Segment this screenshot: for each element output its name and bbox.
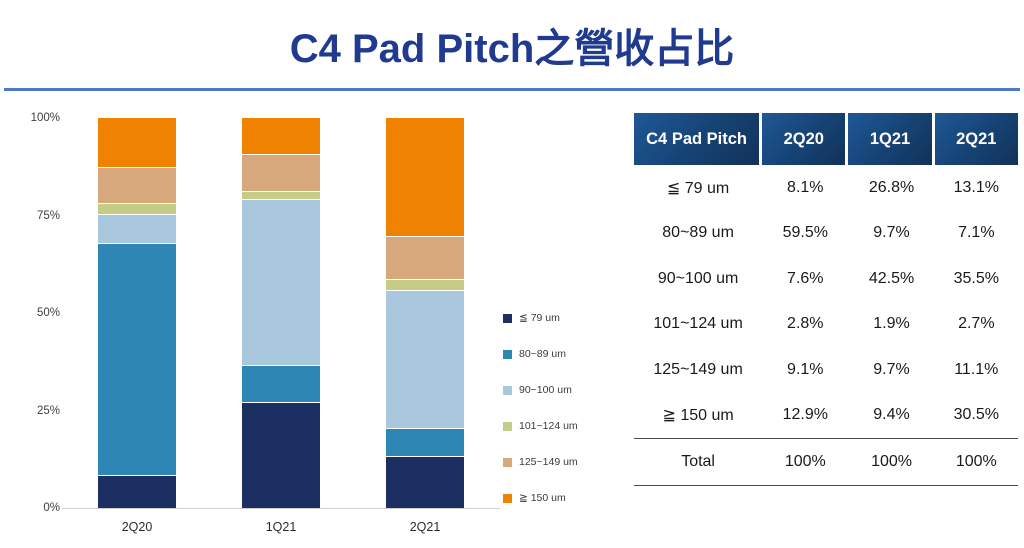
bar-segment[interactable]	[242, 200, 320, 366]
bar-segment[interactable]	[386, 118, 464, 237]
bar-segment[interactable]	[242, 155, 320, 193]
bar-segment[interactable]	[98, 244, 176, 476]
table-cell-value: 42.5%	[848, 256, 934, 302]
y-tick-label: 100%	[8, 112, 60, 124]
table-cell-label: 80~89 um	[634, 211, 762, 257]
legend-item[interactable]: 90~100 um	[503, 372, 623, 408]
bar-segment[interactable]	[386, 280, 464, 291]
y-axis: 100% 75% 50% 25% 0%	[8, 104, 60, 504]
legend-item[interactable]: 125~149 um	[503, 444, 623, 480]
table-cell-value: 100%	[848, 438, 934, 486]
table-cell-value: 2.8%	[762, 302, 848, 348]
y-tick-label: 75%	[8, 210, 60, 222]
table-cell-value: 9.1%	[762, 347, 848, 393]
table-cell-value: 7.6%	[762, 256, 848, 302]
table-cell-label: 101~124 um	[634, 302, 762, 348]
legend-swatch-icon	[503, 350, 512, 359]
table-cell-label: ≧ 150 um	[634, 393, 762, 439]
legend-label: ≧ 150 um	[519, 492, 566, 504]
legend-item[interactable]: ≦ 79 um	[503, 300, 623, 336]
table-total-row: Total100%100%100%	[634, 438, 1018, 486]
bar-segment[interactable]	[386, 237, 464, 280]
table-cell-value: 9.7%	[848, 347, 934, 393]
legend-item[interactable]: 80~89 um	[503, 336, 623, 372]
bar-segment[interactable]	[386, 457, 464, 508]
table-cell-label: 125~149 um	[634, 347, 762, 393]
bar-segment[interactable]	[242, 403, 320, 508]
legend-swatch-icon	[503, 314, 512, 323]
table-cell-value: 59.5%	[762, 211, 848, 257]
table-cell-value: 13.1%	[935, 165, 1018, 211]
table-cell-value: 9.7%	[848, 211, 934, 257]
table-cell-value: 100%	[762, 438, 848, 486]
bar-stack-1Q21[interactable]	[242, 118, 320, 508]
legend-item[interactable]: ≧ 150 um	[503, 480, 623, 516]
bar-segment[interactable]	[386, 429, 464, 457]
table-header-cell: C4 Pad Pitch	[634, 113, 762, 165]
table-row: 125~149 um9.1%9.7%11.1%	[634, 347, 1018, 393]
page-title: C4 Pad Pitch之營收占比	[0, 16, 1024, 74]
table-row: ≦ 79 um8.1%26.8%13.1%	[634, 165, 1018, 211]
table-cell-value: 30.5%	[935, 393, 1018, 439]
bar-segment[interactable]	[98, 118, 176, 168]
legend-label: 80~89 um	[519, 348, 566, 360]
bar-segment[interactable]	[242, 366, 320, 404]
table-cell-value: 2.7%	[935, 302, 1018, 348]
table-cell-value: 26.8%	[848, 165, 934, 211]
table-cell-value: 12.9%	[762, 393, 848, 439]
bar-segment[interactable]	[242, 192, 320, 199]
table-row: 90~100 um7.6%42.5%35.5%	[634, 256, 1018, 302]
chart-legend: ≦ 79 um80~89 um90~100 um101~124 um125~14…	[503, 300, 623, 516]
plot-area	[66, 118, 496, 508]
x-tick-label: 1Q21	[226, 520, 336, 534]
table-row: 80~89 um59.5%9.7%7.1%	[634, 211, 1018, 257]
table-cell-label: ≦ 79 um	[634, 165, 762, 211]
bar-segment[interactable]	[242, 118, 320, 155]
table-header-cell: 2Q20	[762, 113, 848, 165]
x-axis: 2Q20 1Q21 2Q21	[66, 514, 496, 544]
table-cell-value: 1.9%	[848, 302, 934, 348]
title-divider	[4, 88, 1020, 91]
legend-swatch-icon	[503, 458, 512, 467]
legend-swatch-icon	[503, 494, 512, 503]
table-cell-value: 35.5%	[935, 256, 1018, 302]
table-cell-value: 100%	[935, 438, 1018, 486]
legend-label: 90~100 um	[519, 384, 572, 396]
x-axis-line	[62, 508, 500, 509]
legend-label: 125~149 um	[519, 456, 578, 468]
x-tick-label: 2Q21	[370, 520, 480, 534]
bar-segment[interactable]	[98, 204, 176, 215]
bar-segment[interactable]	[386, 291, 464, 429]
table-row: ≧ 150 um12.9%9.4%30.5%	[634, 393, 1018, 439]
table-cell-value: 9.4%	[848, 393, 934, 439]
table-cell-value: 7.1%	[935, 211, 1018, 257]
table-header-cell: 1Q21	[848, 113, 934, 165]
y-tick-label: 25%	[8, 405, 60, 417]
table-header-cell: 2Q21	[935, 113, 1018, 165]
legend-label: 101~124 um	[519, 420, 578, 432]
x-tick-label: 2Q20	[82, 520, 192, 534]
table-header-row: C4 Pad Pitch 2Q20 1Q21 2Q21	[634, 113, 1018, 165]
legend-swatch-icon	[503, 386, 512, 395]
bar-stack-2Q20[interactable]	[98, 118, 176, 508]
table-row: 101~124 um2.8%1.9%2.7%	[634, 302, 1018, 348]
table-cell-value: 11.1%	[935, 347, 1018, 393]
table-cell-label: Total	[634, 438, 762, 486]
bar-stack-2Q21[interactable]	[386, 118, 464, 508]
y-tick-label: 50%	[8, 307, 60, 319]
bar-segment[interactable]	[98, 168, 176, 203]
table-cell-label: 90~100 um	[634, 256, 762, 302]
legend-label: ≦ 79 um	[519, 312, 560, 324]
y-tick-label: 0%	[8, 502, 60, 514]
legend-item[interactable]: 101~124 um	[503, 408, 623, 444]
legend-swatch-icon	[503, 422, 512, 431]
pad-pitch-table: C4 Pad Pitch 2Q20 1Q21 2Q21 ≦ 79 um8.1%2…	[634, 113, 1018, 486]
bar-segment[interactable]	[98, 215, 176, 245]
table-cell-value: 8.1%	[762, 165, 848, 211]
bar-segment[interactable]	[98, 476, 176, 508]
